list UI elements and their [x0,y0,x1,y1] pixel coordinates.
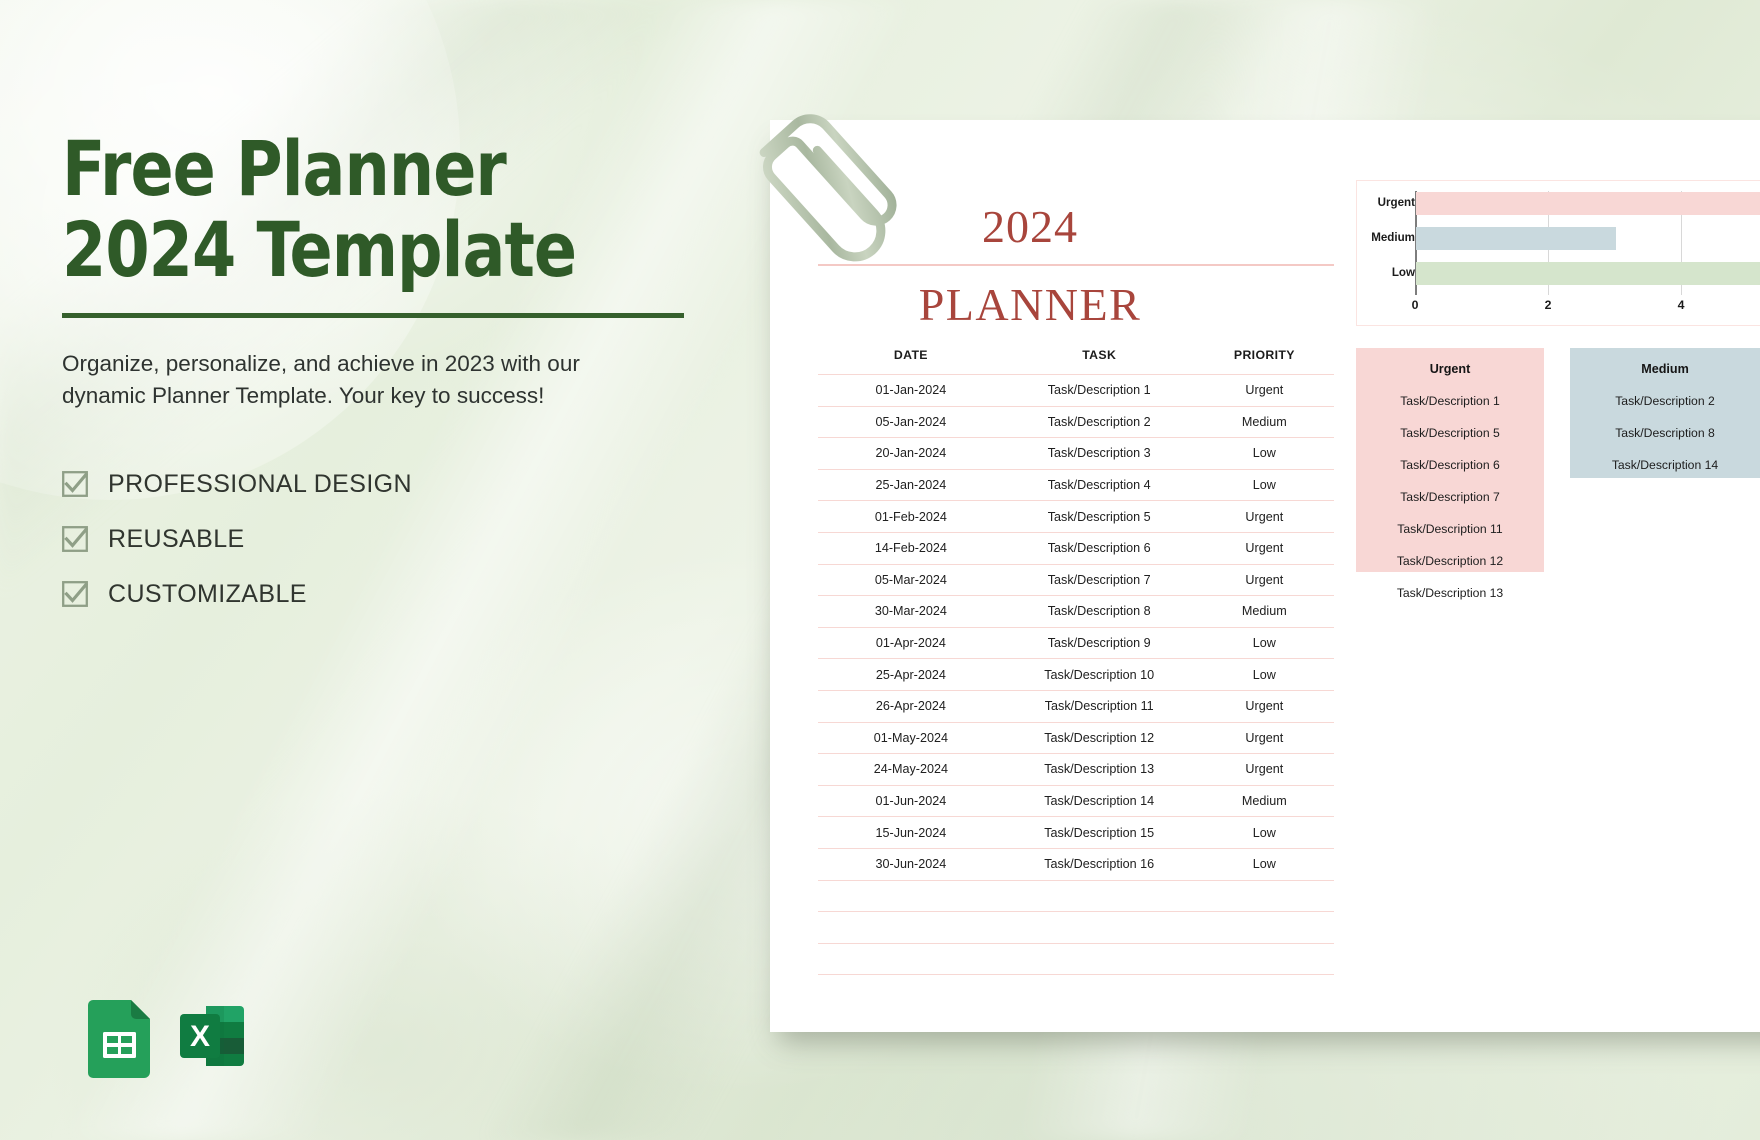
cell-priority: Low [1195,438,1334,470]
cell-date: 30-Jun-2024 [818,848,1004,880]
table-row[interactable]: 01-Jan-2024Task/Description 1Urgent [818,375,1334,407]
cell-task: Task/Description 4 [1004,469,1195,501]
cell-task: Task/Description 2 [1004,406,1195,438]
list-item: Task/Description 13 [1356,586,1544,600]
cell-priority: Urgent [1195,722,1334,754]
table-row[interactable] [818,943,1334,975]
google-sheets-icon[interactable] [88,1000,150,1083]
list-item: Task/Description 7 [1356,490,1544,504]
cell-date: 25-Jan-2024 [818,469,1004,501]
chart-category-label: Low [1392,266,1415,279]
cell-task: Task/Description 8 [1004,596,1195,628]
cell-task [1004,943,1195,975]
group-box-medium: Medium Task/Description 2 Task/Descripti… [1570,348,1760,478]
feature-label: PROFESSIONAL DESIGN [108,470,412,499]
table-row[interactable]: 01-Apr-2024Task/Description 9Low [818,627,1334,659]
chart-bar-medium [1416,227,1616,250]
cell-task: Task/Description 15 [1004,817,1195,849]
excel-icon[interactable]: X [176,1000,244,1077]
cell-date: 25-Apr-2024 [818,659,1004,691]
cell-date: 01-May-2024 [818,722,1004,754]
cell-priority: Medium [1195,785,1334,817]
cell-priority: Low [1195,627,1334,659]
cell-date: 14-Feb-2024 [818,532,1004,564]
paperclip-icon [742,92,912,272]
table-row[interactable]: 25-Apr-2024Task/Description 10Low [818,659,1334,691]
cell-priority: Urgent [1195,532,1334,564]
title-divider [62,313,684,318]
column-header-date: DATE [818,348,1004,375]
cell-date: 01-Feb-2024 [818,501,1004,533]
table-row[interactable]: 30-Mar-2024Task/Description 8Medium [818,596,1334,628]
checkbox-checked-icon [62,526,88,552]
file-format-icons: X [88,1000,244,1083]
table-row[interactable] [818,880,1334,912]
cell-task: Task/Description 1 [1004,375,1195,407]
cell-priority: Urgent [1195,754,1334,786]
group-box-urgent: Urgent Task/Description 1 Task/Descripti… [1356,348,1544,572]
cell-date: 05-Mar-2024 [818,564,1004,596]
priority-bar-chart: Urgent Medium Low 0 2 4 [1356,180,1760,326]
cell-task: Task/Description 6 [1004,532,1195,564]
planner-title: PLANNER [770,278,1290,331]
cell-priority: Medium [1195,596,1334,628]
cell-date: 26-Apr-2024 [818,690,1004,722]
table-row[interactable]: 14-Feb-2024Task/Description 6Urgent [818,532,1334,564]
cell-task: Task/Description 7 [1004,564,1195,596]
cell-date: 15-Jun-2024 [818,817,1004,849]
list-item: Task/Description 14 [1570,458,1760,472]
cell-priority: Urgent [1195,564,1334,596]
column-header-priority: PRIORITY [1195,348,1334,375]
cell-date: 30-Mar-2024 [818,596,1004,628]
cell-priority [1195,912,1334,944]
cell-task: Task/Description 3 [1004,438,1195,470]
cell-priority [1195,943,1334,975]
group-title: Urgent [1356,362,1544,376]
chart-x-tick: 4 [1678,298,1685,312]
feature-list: PROFESSIONAL DESIGN REUSABLE CUSTOMIZABL… [62,470,722,609]
list-item: Task/Description 8 [1570,426,1760,440]
table-row[interactable]: 25-Jan-2024Task/Description 4Low [818,469,1334,501]
chart-category-label: Medium [1371,231,1415,244]
list-item: Task/Description 1 [1356,394,1544,408]
table-row[interactable]: 26-Apr-2024Task/Description 11Urgent [818,690,1334,722]
cell-task: Task/Description 14 [1004,785,1195,817]
cell-task: Task/Description 11 [1004,690,1195,722]
cell-date [818,975,1004,1007]
feature-label: REUSABLE [108,525,245,554]
cell-task [1004,880,1195,912]
list-item: CUSTOMIZABLE [62,580,722,609]
table-row[interactable]: 24-May-2024Task/Description 13Urgent [818,754,1334,786]
cell-priority: Urgent [1195,375,1334,407]
table-row[interactable]: 05-Jan-2024Task/Description 2Medium [818,406,1334,438]
cell-priority: Low [1195,848,1334,880]
feature-label: CUSTOMIZABLE [108,580,307,609]
chart-category-label: Urgent [1378,196,1415,209]
cell-date: 01-Jan-2024 [818,375,1004,407]
list-item: Task/Description 12 [1356,554,1544,568]
checkbox-checked-icon [62,581,88,607]
list-item: Task/Description 2 [1570,394,1760,408]
cell-task: Task/Description 10 [1004,659,1195,691]
cell-date [818,943,1004,975]
cell-date [818,912,1004,944]
table-row[interactable]: 01-Jun-2024Task/Description 14Medium [818,785,1334,817]
cell-date: 01-Jun-2024 [818,785,1004,817]
cell-task: Task/Description 9 [1004,627,1195,659]
table-row[interactable]: 20-Jan-2024Task/Description 3Low [818,438,1334,470]
page-title: Free Planner 2024 Template [62,128,676,291]
cell-priority: Low [1195,469,1334,501]
list-item: Task/Description 5 [1356,426,1544,440]
cell-priority [1195,880,1334,912]
promo-subtitle: Organize, personalize, and achieve in 20… [62,348,642,412]
cell-task [1004,912,1195,944]
chart-x-tick: 2 [1545,298,1552,312]
cell-priority [1195,975,1334,1007]
planner-table: DATE TASK PRIORITY 01-Jan-2024Task/Descr… [818,348,1334,1006]
cell-task [1004,975,1195,1007]
cell-priority: Low [1195,817,1334,849]
cell-priority: Medium [1195,406,1334,438]
chart-bar-urgent [1416,192,1760,215]
list-item: Task/Description 6 [1356,458,1544,472]
list-item: PROFESSIONAL DESIGN [62,470,722,499]
list-item: REUSABLE [62,525,722,554]
group-title: Medium [1570,362,1760,376]
cell-task: Task/Description 13 [1004,754,1195,786]
svg-text:X: X [190,1020,210,1053]
cell-date: 24-May-2024 [818,754,1004,786]
table-row[interactable] [818,912,1334,944]
cell-task: Task/Description 5 [1004,501,1195,533]
table-row[interactable]: 15-Jun-2024Task/Description 15Low [818,817,1334,849]
cell-priority: Urgent [1195,690,1334,722]
list-item: Task/Description 11 [1356,522,1544,536]
table-row[interactable]: 05-Mar-2024Task/Description 7Urgent [818,564,1334,596]
cell-date: 20-Jan-2024 [818,438,1004,470]
cell-date: 05-Jan-2024 [818,406,1004,438]
cell-task: Task/Description 16 [1004,848,1195,880]
table-row[interactable] [818,975,1334,1007]
cell-task: Task/Description 12 [1004,722,1195,754]
chart-x-tick: 0 [1412,298,1419,312]
cell-priority: Low [1195,659,1334,691]
column-header-task: TASK [1004,348,1195,375]
promo-panel: Free Planner 2024 Template Organize, per… [62,128,722,609]
table-row[interactable]: 30-Jun-2024Task/Description 16Low [818,848,1334,880]
checkbox-checked-icon [62,471,88,497]
table-row[interactable]: 01-May-2024Task/Description 12Urgent [818,722,1334,754]
cell-priority: Urgent [1195,501,1334,533]
table-header-row: DATE TASK PRIORITY [818,348,1334,375]
chart-bar-low [1416,262,1760,285]
table-row[interactable]: 01-Feb-2024Task/Description 5Urgent [818,501,1334,533]
cell-date [818,880,1004,912]
cell-date: 01-Apr-2024 [818,627,1004,659]
